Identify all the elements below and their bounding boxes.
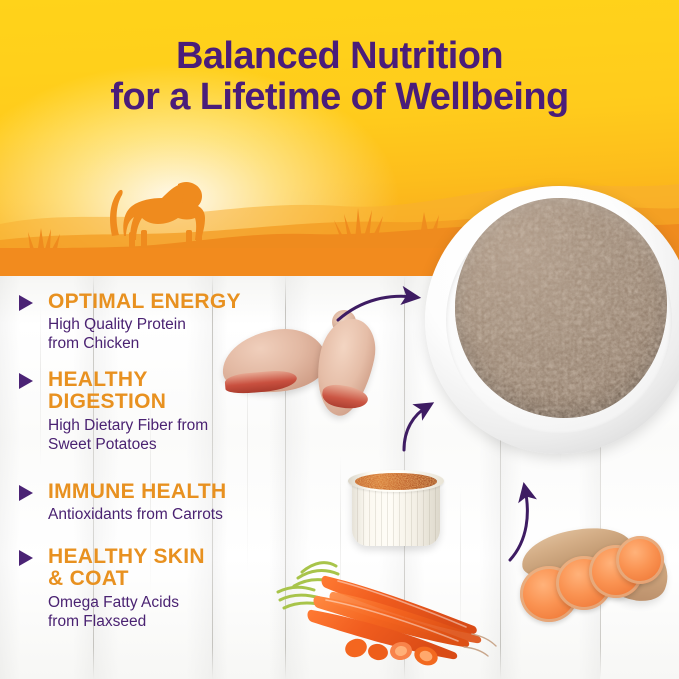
triangle-bullet-icon	[19, 550, 33, 566]
triangle-bullet-icon	[19, 485, 33, 501]
feature-healthy-digestion[interactable]: HEALTHY DIGESTION High Dietary Fiber fro…	[18, 369, 208, 454]
feature-subtext-line: from Flaxseed	[48, 612, 205, 631]
feature-heading-line: DIGESTION	[48, 391, 208, 413]
feature-heading-line: HEALTHY	[48, 369, 208, 391]
feature-subtext: Omega Fatty Acids from Flaxseed	[18, 593, 205, 631]
feature-heading-text: OPTIMAL ENERGY	[48, 290, 241, 313]
feature-heading-line: HEALTHY SKIN	[48, 546, 205, 568]
feature-subtext-line: from Chicken	[48, 334, 241, 353]
feature-subtext-line: High Quality Protein	[48, 315, 241, 334]
feature-optimal-energy[interactable]: OPTIMAL ENERGY High Quality Protein from…	[18, 291, 241, 354]
poster-title: Balanced Nutrition for a Lifetime of Wel…	[0, 36, 679, 118]
feature-healthy-skin-coat[interactable]: HEALTHY SKIN & COAT Omega Fatty Acids fr…	[18, 546, 205, 631]
feature-subtext: High Dietary Fiber from Sweet Potatoes	[18, 416, 208, 454]
flaxseed-fill	[355, 473, 437, 490]
feature-subtext: Antioxidants from Carrots	[18, 505, 227, 524]
title-line-2: for a Lifetime of Wellbeing	[0, 77, 679, 118]
feature-immune-health[interactable]: IMMUNE HEALTH Antioxidants from Carrots	[18, 481, 227, 524]
feature-subtext-line: Antioxidants from Carrots	[48, 505, 227, 524]
feature-subtext-line: High Dietary Fiber from	[48, 416, 208, 435]
sweet-potato-slice	[616, 536, 664, 584]
feature-subtext: High Quality Protein from Chicken	[18, 315, 241, 353]
title-line-1: Balanced Nutrition	[0, 36, 679, 77]
feature-heading-line: & COAT	[48, 568, 205, 590]
feature-heading: OPTIMAL ENERGY	[18, 291, 241, 313]
triangle-bullet-icon	[19, 373, 33, 389]
feature-subtext-line: Omega Fatty Acids	[48, 593, 205, 612]
feature-subtext-line: Sweet Potatoes	[48, 435, 208, 454]
feature-heading: HEALTHY SKIN & COAT	[18, 546, 205, 591]
feature-heading: IMMUNE HEALTH	[18, 481, 227, 503]
feature-heading: HEALTHY DIGESTION	[18, 369, 208, 414]
feature-list: OPTIMAL ENERGY High Quality Protein from…	[0, 276, 330, 679]
triangle-bullet-icon	[19, 295, 33, 311]
dog-food-pate	[455, 198, 667, 418]
nutrition-infographic: Balanced Nutrition for a Lifetime of Wel…	[0, 0, 679, 679]
feature-heading-text: IMMUNE HEALTH	[48, 480, 227, 503]
